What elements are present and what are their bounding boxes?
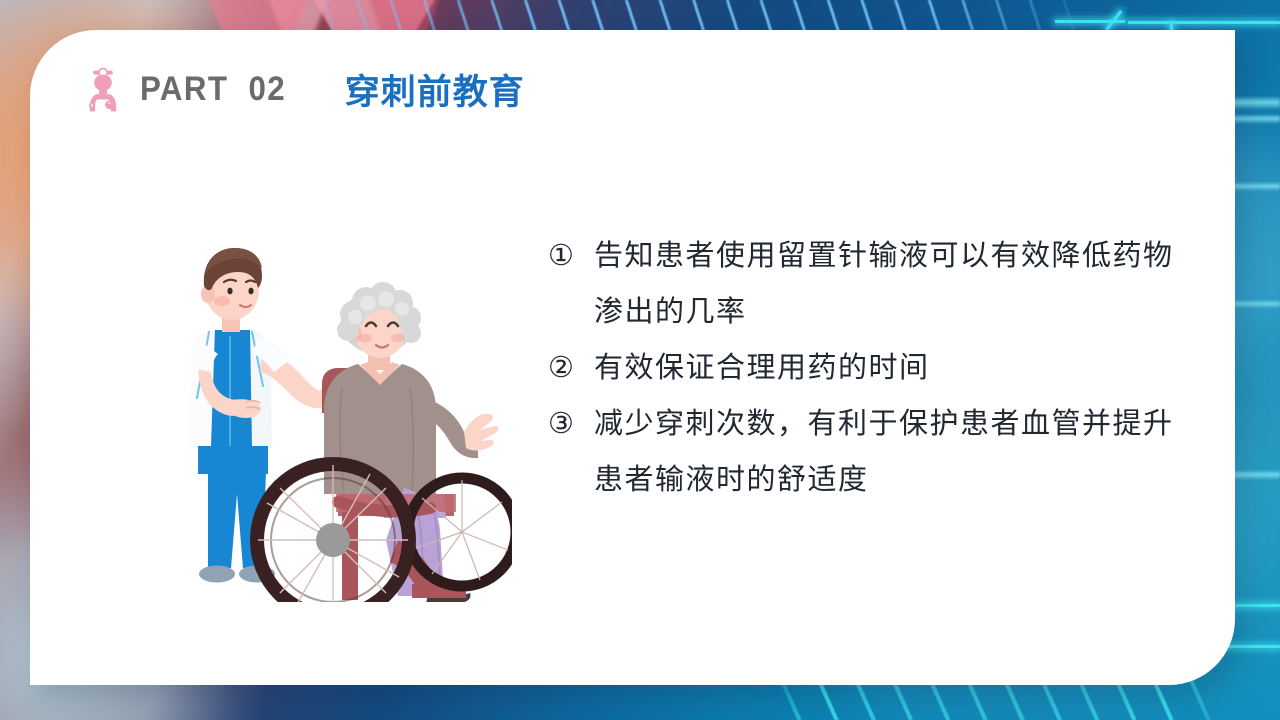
nurse-pushing-elderly-woman-in-wheelchair-illustration <box>172 202 512 602</box>
education-points-list: ① 告知患者使用留置针输液可以有效降低药物渗出的几率 ② 有效保证合理用药的时间… <box>548 228 1195 508</box>
page-title: 穿刺前教育 <box>345 64 525 115</box>
card-body: ① 告知患者使用留置针输液可以有效降低药物渗出的几率 ② 有效保证合理用药的时间… <box>82 180 1195 645</box>
slide-canvas: PART 02 穿刺前教育 <box>0 0 1280 720</box>
list-item-text: 减少穿刺次数，有利于保护患者血管并提升患者输液时的舒适度 <box>594 396 1195 508</box>
circuit-line-top-horizontal <box>1128 21 1280 24</box>
list-item-marker: ① <box>548 228 594 284</box>
list-item: ③ 减少穿刺次数，有利于保护患者血管并提升患者输液时的舒适度 <box>548 396 1195 508</box>
wheelchair-frame-front <box>257 464 512 602</box>
doctor-with-stethoscope-icon <box>82 65 124 113</box>
card-header: PART 02 穿刺前教育 <box>82 57 525 121</box>
list-item-text: 告知患者使用留置针输液可以有效降低药物渗出的几率 <box>594 228 1195 340</box>
list-item-marker: ② <box>548 340 594 396</box>
list-item-marker: ③ <box>548 396 594 452</box>
content-card: PART 02 穿刺前教育 <box>30 30 1235 685</box>
illustration-container <box>172 202 532 607</box>
part-label: PART 02 <box>140 70 286 109</box>
list-item: ① 告知患者使用留置针输液可以有效降低药物渗出的几率 <box>548 228 1195 340</box>
circuit-line-top-left-horizontal <box>1055 20 1125 23</box>
list-item-text: 有效保证合理用药的时间 <box>594 340 1195 396</box>
circuit-line-bottom-horizontal-2 <box>1226 645 1280 648</box>
list-item: ② 有效保证合理用药的时间 <box>548 340 1195 396</box>
